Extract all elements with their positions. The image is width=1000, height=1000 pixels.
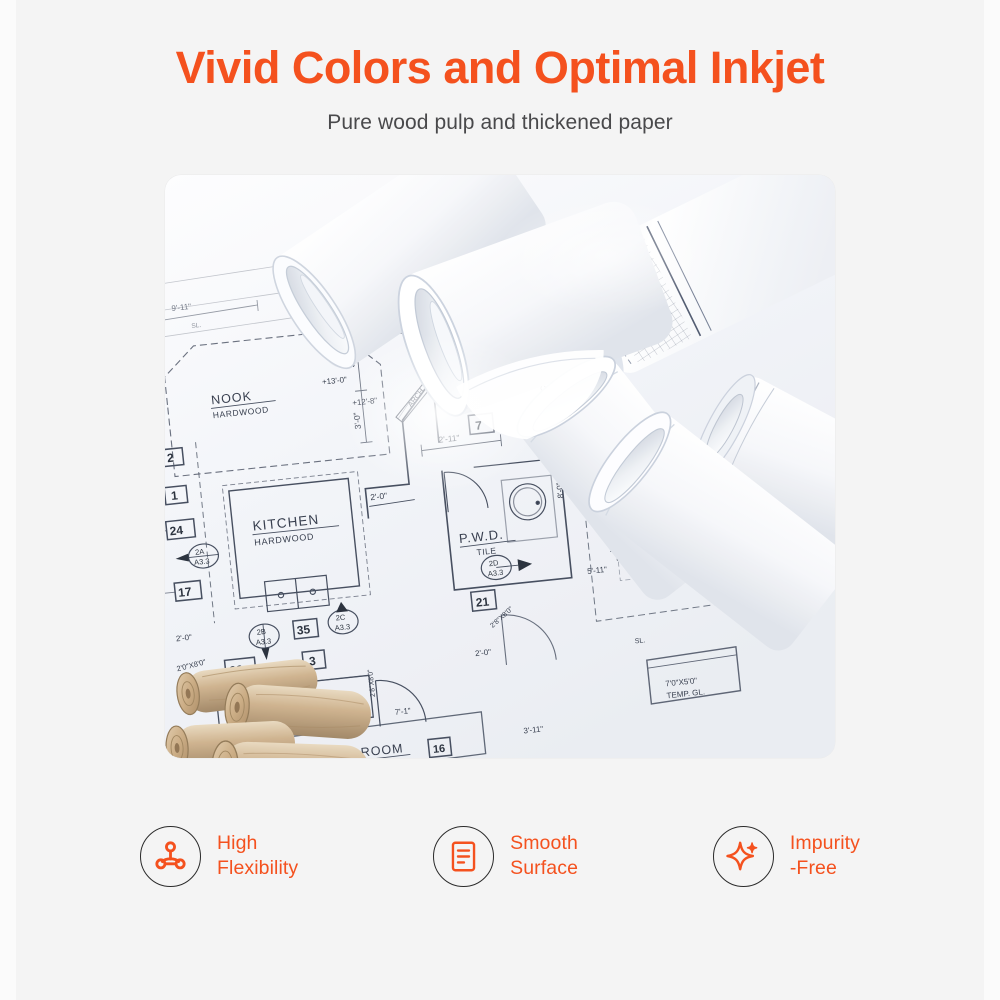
document-icon (433, 826, 494, 887)
feature-label-high-flexibility: High Flexibility (217, 831, 298, 882)
feature-list: High Flexibility Smooth Surface (140, 826, 860, 887)
flexibility-icon (140, 826, 201, 887)
feature-item-impurity-free[interactable]: Impurity -Free (713, 826, 860, 887)
feature-label-impurity-free: Impurity -Free (790, 831, 860, 882)
page-subtitle: Pure wood pulp and thickened paper (0, 92, 1000, 135)
page-title: Vivid Colors and Optimal Inkjet (0, 44, 1000, 92)
product-feature-page: Vivid Colors and Optimal Inkjet Pure woo… (0, 0, 1000, 1000)
feature-item-high-flexibility[interactable]: High Flexibility (140, 826, 298, 887)
feature-item-smooth-surface[interactable]: Smooth Surface (433, 826, 578, 887)
feature-label-smooth-surface: Smooth Surface (510, 831, 578, 882)
header: Vivid Colors and Optimal Inkjet Pure woo… (0, 0, 1000, 135)
product-photo: 9'-11" SL. NOOK HARDWOOD +13'-0" +12'-8" (165, 175, 835, 758)
sparkle-icon (713, 826, 774, 887)
blueprint-photo-illustration: 9'-11" SL. NOOK HARDWOOD +13'-0" +12'-8" (165, 175, 835, 758)
